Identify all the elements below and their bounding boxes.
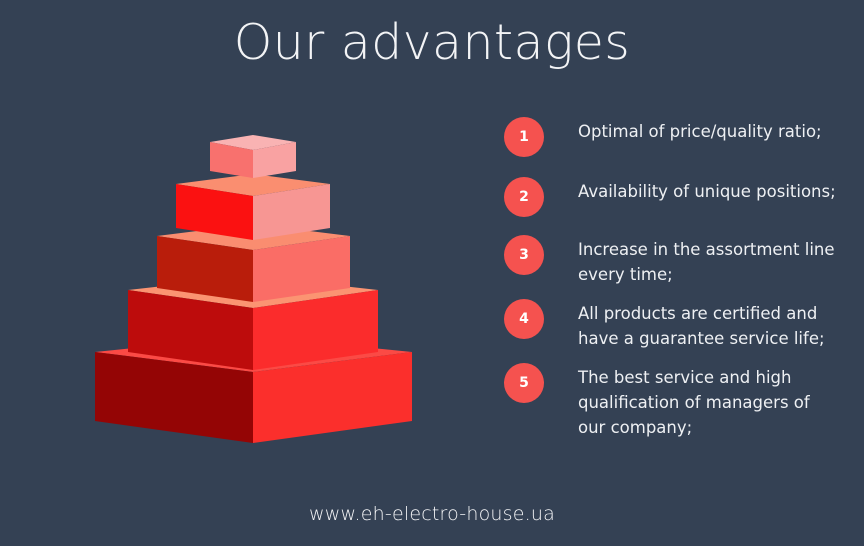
pyramid-graphic [60,118,460,458]
advantage-line: qualification of managers of [578,390,844,415]
advantage-text: All products are certified and have a gu… [578,299,844,351]
advantage-line: our company; [578,415,844,440]
advantage-text: The best service and high qualification … [578,363,844,440]
advantage-number-badge: 4 [504,299,544,339]
advantage-text: Optimal of price/quality ratio; [578,117,844,144]
advantage-line: Optimal of price/quality ratio; [578,119,844,144]
advantage-line: Increase in the assortment line [578,237,844,262]
page-title: Our advantages [0,14,864,71]
advantage-line: have a guarantee service life; [578,326,844,351]
advantages-list: 1 Optimal of price/quality ratio; 2 Avai… [496,117,844,440]
pyramid-svg [60,118,460,458]
list-item: 5 The best service and high qualificatio… [496,363,844,440]
advantage-line: All products are certified and [578,301,844,326]
list-item: 1 Optimal of price/quality ratio; [496,117,844,161]
advantage-number-badge: 1 [504,117,544,157]
advantage-line: every time; [578,262,844,287]
footer-website-url: www.eh-electro-house.ua [0,503,864,525]
advantage-text: Availability of unique positions; [578,177,844,204]
pyramid-tier-2 [176,174,330,240]
list-item: 2 Availability of unique positions; [496,177,844,221]
advantage-number-badge: 3 [504,235,544,275]
advantage-line: Availability of unique positions; [578,179,844,204]
advantage-number-badge: 5 [504,363,544,403]
slide-canvas: Our advantages [0,0,864,546]
advantage-line: The best service and high [578,365,844,390]
pyramid-tier-1 [210,135,296,178]
advantage-text: Increase in the assortment line every ti… [578,235,844,287]
advantage-number-badge: 2 [504,177,544,217]
list-item: 4 All products are certified and have a … [496,299,844,351]
list-item: 3 Increase in the assortment line every … [496,235,844,287]
